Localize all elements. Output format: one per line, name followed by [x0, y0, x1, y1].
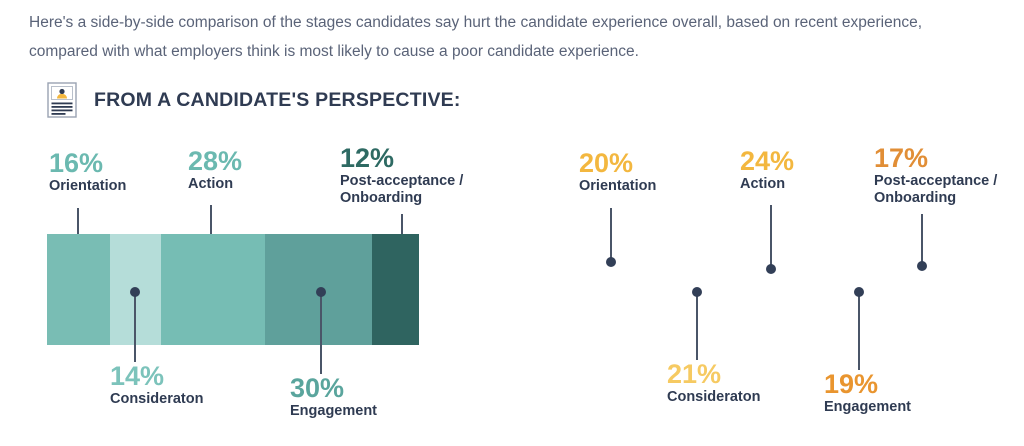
callout-stage: Orientation [49, 178, 126, 195]
connector-candidate-engagement [315, 288, 326, 374]
bar-segment-post-acceptance[interactable] [372, 234, 419, 345]
candidate-panel-header: FROM A CANDIDATE'S PERSPECTIVE: [47, 82, 461, 118]
callout-value: 14% [110, 363, 203, 391]
candidate-panel: FROM A CANDIDATE'S PERSPECTIVE: 16% Orie… [0, 0, 512, 446]
callout-employer-action: 24% Action [740, 148, 794, 193]
callout-candidate-engagement: 30% Engagement [290, 375, 377, 420]
connector-employer-consideraton [691, 288, 702, 360]
connector-employer-engagement [853, 288, 864, 370]
callout-employer-post-acceptance: 17% Post-acceptance / Onboarding [874, 145, 1004, 207]
callout-stage: Engagement [824, 399, 911, 416]
callout-employer-engagement: 19% Engagement [824, 371, 911, 416]
callout-value: 19% [824, 371, 911, 399]
connector-candidate-consideraton [129, 288, 140, 362]
callout-value: 28% [188, 148, 242, 176]
callout-value: 17% [874, 145, 1004, 173]
callout-stage: Engagement [290, 403, 377, 420]
callout-candidate-consideraton: 14% Consideraton [110, 363, 203, 408]
bar-segment-action[interactable] [161, 234, 265, 345]
callout-stage: Post-acceptance / Onboarding [340, 173, 470, 207]
employer-panel: FROM AN EMPLOYER'S PERSPECTIVE: 20% Orie… [512, 0, 1024, 446]
callout-value: 20% [579, 150, 656, 178]
candidate-panel-title: FROM A CANDIDATE'S PERSPECTIVE: [94, 89, 461, 112]
callout-value: 16% [49, 150, 126, 178]
callout-stage: Action [188, 176, 242, 193]
callout-candidate-orientation: 16% Orientation [49, 150, 126, 195]
resume-document-icon [47, 82, 77, 118]
callout-stage: Consideraton [667, 389, 760, 406]
candidate-stacked-bar [47, 234, 419, 345]
bar-segment-orientation[interactable] [47, 234, 110, 345]
callout-stage: Consideraton [110, 391, 203, 408]
callout-candidate-post-acceptance: 12% Post-acceptance / Onboarding [340, 145, 470, 207]
connector-employer-post-acceptance [916, 214, 927, 270]
callout-employer-consideraton: 21% Consideraton [667, 361, 760, 406]
callout-employer-orientation: 20% Orientation [579, 150, 656, 195]
callout-value: 12% [340, 145, 470, 173]
callout-candidate-action: 28% Action [188, 148, 242, 193]
callout-value: 24% [740, 148, 794, 176]
callout-value: 30% [290, 375, 377, 403]
callout-stage: Action [740, 176, 794, 193]
connector-employer-action [765, 205, 776, 273]
callout-stage: Orientation [579, 178, 656, 195]
connector-employer-orientation [605, 208, 616, 266]
callout-stage: Post-acceptance / Onboarding [874, 173, 1004, 207]
callout-value: 21% [667, 361, 760, 389]
